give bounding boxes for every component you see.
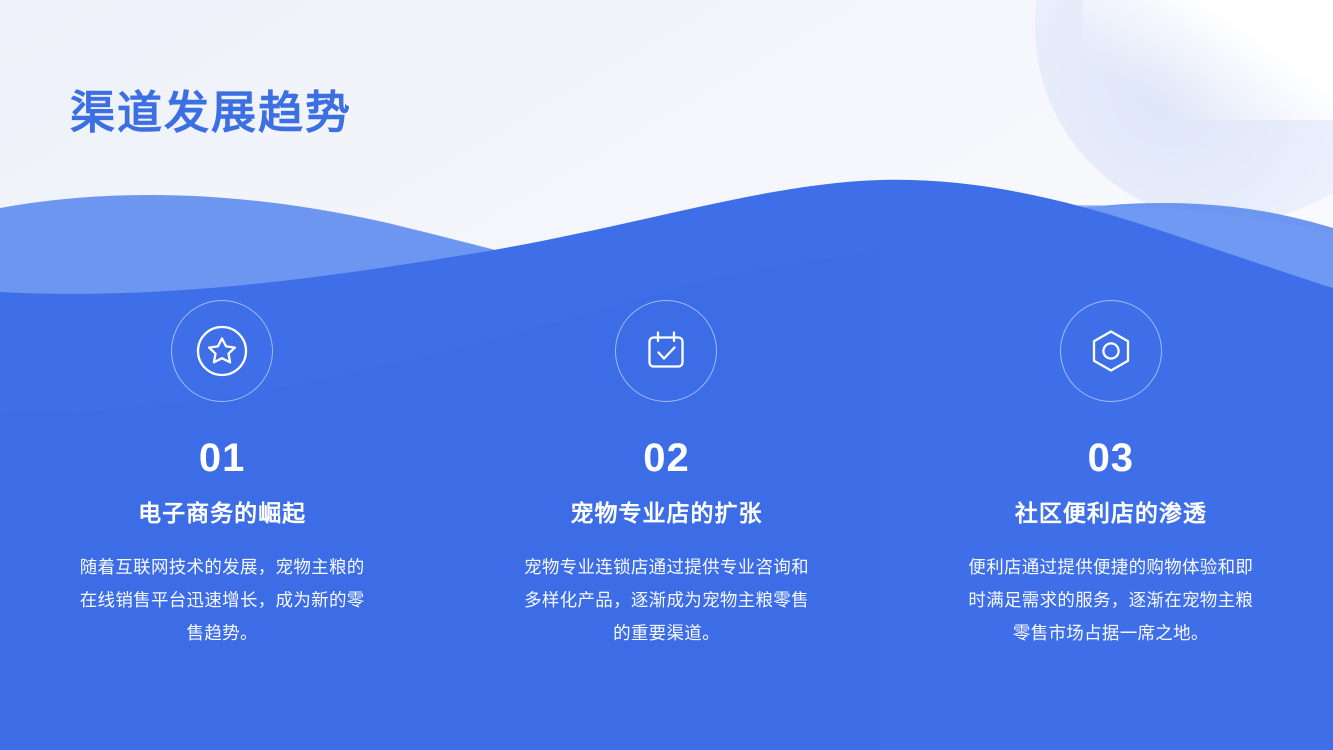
feature-number-1: 01 xyxy=(199,438,246,478)
feature-column-3: 03 社区便利店的渗透 便利店通过提供便捷的购物体验和即时满足需求的服务，逐渐在… xyxy=(889,300,1333,650)
feature-heading-2: 宠物专业店的扩张 xyxy=(570,502,762,525)
feature-number-2: 02 xyxy=(643,438,690,478)
feature-body-1: 随着互联网技术的发展，宠物主粮的在线销售平台迅速增长，成为新的零售趋势。 xyxy=(72,551,372,650)
calendar-check-icon xyxy=(635,320,697,382)
feature-body-2: 宠物专业连锁店通过提供专业咨询和多样化产品，逐渐成为宠物主粮零售的重要渠道。 xyxy=(516,551,816,650)
page-title: 渠道发展趋势 xyxy=(70,76,352,141)
decorative-corner-highlight xyxy=(1083,0,1333,120)
feature-number-3: 03 xyxy=(1088,438,1135,478)
icon-ring-3 xyxy=(1060,300,1162,402)
icon-ring-1 xyxy=(171,300,273,402)
feature-heading-3: 社区便利店的渗透 xyxy=(1015,502,1207,525)
feature-column-1: 01 电子商务的崛起 随着互联网技术的发展，宠物主粮的在线销售平台迅速增长，成为… xyxy=(0,300,444,650)
feature-heading-1: 电子商务的崛起 xyxy=(138,502,306,525)
hexagon-circle-icon xyxy=(1080,320,1142,382)
slide-canvas: 渠道发展趋势 01 电子商务的崛起 随着互联网技术的发展，宠物主粮的在线销售平台 xyxy=(0,0,1333,750)
star-in-circle-icon xyxy=(191,320,253,382)
feature-column-2: 02 宠物专业店的扩张 宠物专业连锁店通过提供专业咨询和多样化产品，逐渐成为宠物… xyxy=(444,300,888,650)
feature-body-3: 便利店通过提供便捷的购物体验和即时满足需求的服务，逐渐在宠物主粮零售市场占据一席… xyxy=(961,551,1261,650)
feature-columns: 01 电子商务的崛起 随着互联网技术的发展，宠物主粮的在线销售平台迅速增长，成为… xyxy=(0,300,1333,650)
icon-ring-2 xyxy=(615,300,717,402)
